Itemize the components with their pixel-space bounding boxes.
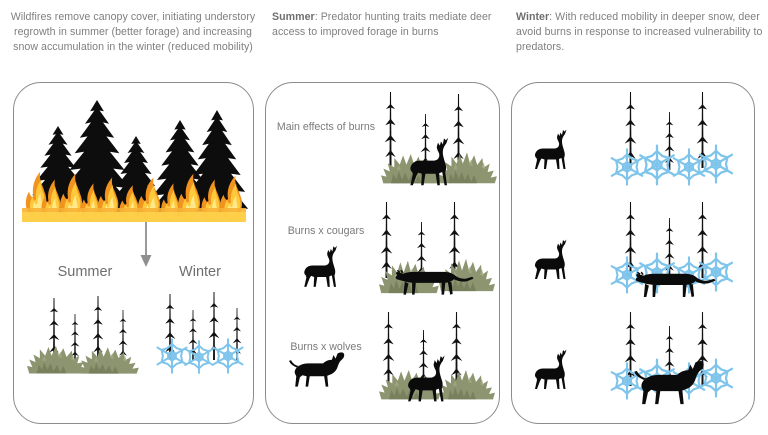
row-label-burns-x-cougars: Burns x cougars [274,224,378,238]
downward-arrow-icon [132,222,160,268]
deer-icon [528,122,578,174]
season-label-winter: Winter [150,264,250,280]
snowflake-icon [155,339,244,373]
season-label-summer: Summer [35,264,135,280]
panel-3-caption: Winter: With reduced mobility in deeper … [508,10,768,55]
snowflake-icon [609,146,734,185]
summer-burn-with-deer-wolves-row [376,312,498,408]
summer-burn-with-deer [376,92,498,190]
winter-burn-scene [150,288,254,378]
deer-icon [528,232,578,284]
wolf-icon [288,348,350,390]
panel-1-caption-text: Wildfires remove canopy cover, initiatin… [11,11,256,53]
summer-burn-scene [26,288,142,378]
panel-1-caption: Wildfires remove canopy cover, initiatin… [8,10,258,55]
panel-2-caption: Summer: Predator hunting traits mediate … [266,10,512,40]
panel-2-caption-lead: Summer [272,11,315,23]
deer-icon [528,342,578,394]
snowflake-icon [609,254,734,293]
burning-forest-scene [22,92,246,222]
winter-burn-with-cougar [606,202,736,302]
summer-burn-with-cougar [376,202,498,302]
deer-icon [297,238,349,292]
burned-snag-icon [383,312,463,386]
shrub-regrowth-icon [27,346,139,374]
panel-3-caption-rest: : With reduced mobility in deeper snow, … [516,11,762,53]
winter-burn-empty [606,92,736,190]
winter-burn-with-wolf [606,312,736,408]
panel-3-caption-lead: Winter [516,11,549,23]
row-label-main-effects: Main effects of burns [274,120,378,134]
